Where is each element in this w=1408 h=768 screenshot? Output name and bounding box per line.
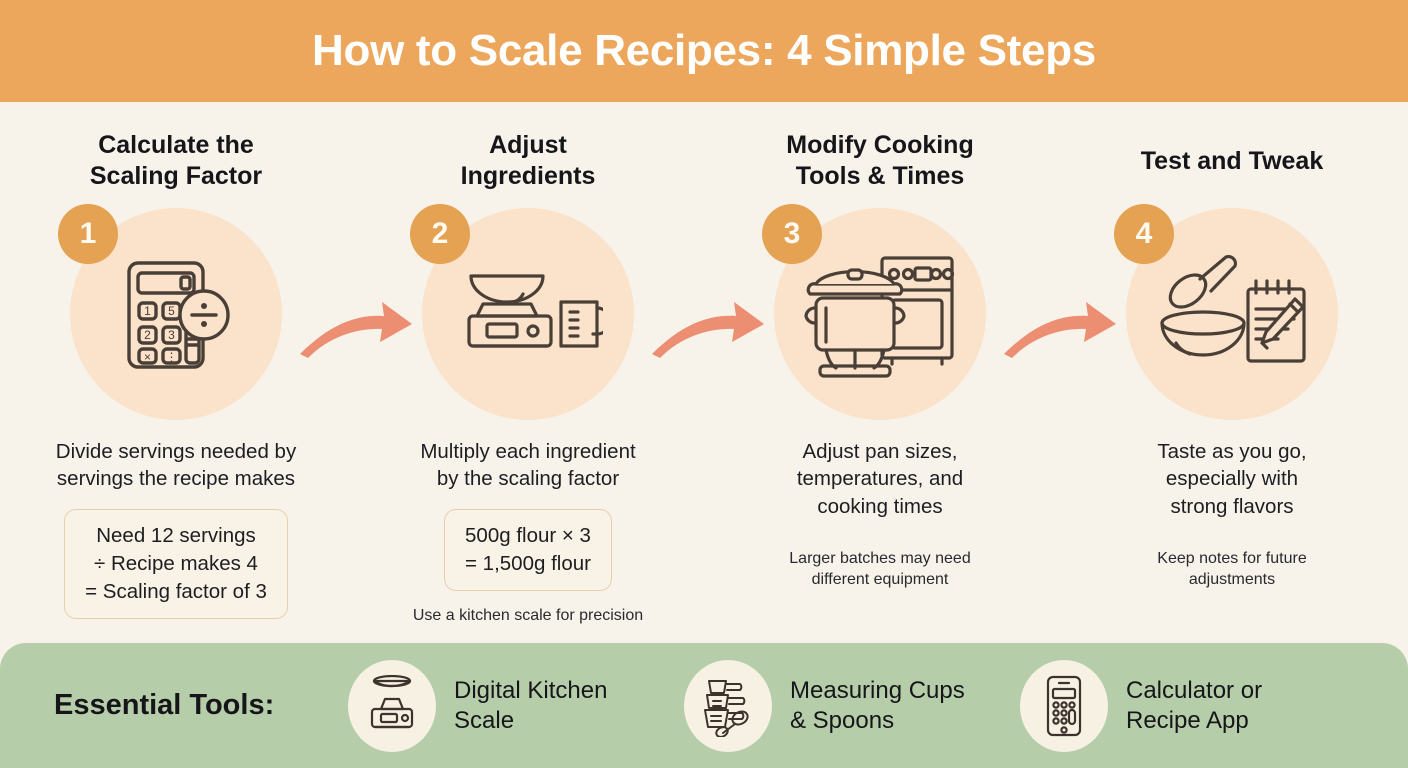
stove-pot-icon [800, 250, 960, 378]
step-1[interactable]: Calculate the Scaling Factor 1 [0, 102, 352, 643]
essential-tools-band: Essential Tools: Digital Kitchen Scale [0, 643, 1408, 768]
step-1-title: Calculate the Scaling Factor [90, 130, 262, 200]
header-bar: How to Scale Recipes: 4 Simple Steps [0, 0, 1408, 102]
step-3-description: Adjust pan sizes, temperatures, and cook… [730, 438, 1030, 520]
tool-1-label-line1: Digital Kitchen [454, 676, 650, 706]
step-2-desc-line1: Multiply each ingredient [378, 438, 678, 465]
step-3-note-line1: Larger batches may need [740, 548, 1020, 569]
svg-text:⋮: ⋮ [166, 350, 178, 364]
step-4-icon-circle-wrap: 4 [1126, 208, 1338, 420]
step-3-title: Modify Cooking Tools & Times [786, 130, 973, 200]
calculator-icon: 1 5 2 3 × ⋮ [111, 249, 241, 379]
measuring-cups-icon-wrap [684, 660, 772, 752]
page-title: How to Scale Recipes: 4 Simple Steps [312, 26, 1096, 76]
tool-2-label: Measuring Cups & Spoons [790, 676, 986, 736]
step-2-example-line2: = 1,500g flour [465, 550, 591, 578]
step-3-title-line1: Modify Cooking [786, 130, 973, 161]
tool-3-label-line2: Recipe App [1126, 706, 1322, 736]
step-4-desc-line1: Taste as you go, [1082, 438, 1382, 465]
tool-calculator-recipe-app[interactable]: Calculator or Recipe App [1020, 660, 1322, 752]
steps-container: Calculate the Scaling Factor 1 [0, 102, 1408, 643]
step-4-title-line1: Test and Tweak [1141, 146, 1323, 177]
step-4-title: Test and Tweak [1141, 130, 1323, 200]
step-4-note: Keep notes for future adjustments [1092, 548, 1372, 591]
step-2-title-line2: Ingredients [461, 161, 596, 192]
tool-1-label-line2: Scale [454, 706, 650, 736]
measuring-cups-icon [699, 675, 757, 737]
step-3[interactable]: Modify Cooking Tools & Times 3 [704, 102, 1056, 643]
step-3-desc-line3: cooking times [730, 493, 1030, 520]
step-3-number-badge: 3 [762, 204, 822, 264]
step-3-title-line2: Tools & Times [786, 161, 973, 192]
step-1-example-line2: ÷ Recipe makes 4 [85, 550, 267, 578]
step-1-title-line2: Scaling Factor [90, 161, 262, 192]
step-1-desc-line2: servings the recipe makes [26, 465, 326, 492]
step-4[interactable]: Test and Tweak 4 [1056, 102, 1408, 643]
step-2-example-line1: 500g flour × 3 [465, 522, 591, 550]
step-1-desc-line1: Divide servings needed by [26, 438, 326, 465]
step-1-description: Divide servings needed by servings the r… [26, 438, 326, 493]
svg-text:5: 5 [168, 304, 175, 318]
svg-text:3: 3 [168, 328, 175, 342]
digital-scale-icon-wrap [348, 660, 436, 752]
step-4-number-badge: 4 [1114, 204, 1174, 264]
step-1-example-line1: Need 12 servings [85, 522, 267, 550]
step-2-icon-circle-wrap: 2 [422, 208, 634, 420]
step-3-note-line2: different equipment [740, 569, 1020, 590]
tool-digital-kitchen-scale[interactable]: Digital Kitchen Scale [348, 660, 650, 752]
step-1-number-badge: 1 [58, 204, 118, 264]
step-4-note-line2: adjustments [1092, 569, 1372, 590]
tool-3-label: Calculator or Recipe App [1126, 676, 1322, 736]
step-2-desc-line2: by the scaling factor [378, 465, 678, 492]
step-3-icon-circle-wrap: 3 [774, 208, 986, 420]
phone-calculator-icon-wrap [1020, 660, 1108, 752]
svg-text:×: × [144, 350, 151, 364]
svg-text:1: 1 [144, 304, 151, 318]
divide-badge-icon [180, 291, 228, 339]
kitchen-scale-icon [453, 254, 603, 374]
svg-text:2: 2 [144, 328, 151, 342]
step-2-description: Multiply each ingredient by the scaling … [378, 438, 678, 493]
tool-3-label-line1: Calculator or [1126, 676, 1322, 706]
step-4-description: Taste as you go, especially with strong … [1082, 438, 1382, 520]
step-2[interactable]: Adjust Ingredients 2 [352, 102, 704, 643]
step-1-icon-circle-wrap: 1 [70, 208, 282, 420]
tool-1-label: Digital Kitchen Scale [454, 676, 650, 736]
tool-measuring-cups-spoons[interactable]: Measuring Cups & Spoons [684, 660, 986, 752]
step-3-desc-line2: temperatures, and [730, 465, 1030, 492]
step-3-desc-line1: Adjust pan sizes, [730, 438, 1030, 465]
tool-2-label-line2: & Spoons [790, 706, 986, 736]
step-1-title-line1: Calculate the [90, 130, 262, 161]
tool-2-label-line1: Measuring Cups [790, 676, 986, 706]
step-2-title: Adjust Ingredients [461, 130, 596, 200]
step-4-desc-line2: especially with [1082, 465, 1382, 492]
step-3-note: Larger batches may need different equipm… [740, 548, 1020, 591]
step-4-desc-line3: strong flavors [1082, 493, 1382, 520]
step-1-example-box: Need 12 servings ÷ Recipe makes 4 = Scal… [64, 509, 288, 620]
phone-calculator-icon [1042, 674, 1086, 738]
step-2-number-badge: 2 [410, 204, 470, 264]
step-4-note-line1: Keep notes for future [1092, 548, 1372, 569]
step-2-note: Use a kitchen scale for precision [388, 605, 668, 626]
essential-tools-label: Essential Tools: [54, 689, 348, 722]
step-2-title-line1: Adjust [461, 130, 596, 161]
digital-scale-icon [364, 675, 420, 737]
step-1-example-line3: = Scaling factor of 3 [85, 578, 267, 606]
step-2-example-box: 500g flour × 3 = 1,500g flour [444, 509, 612, 592]
bowl-spoon-notepad-icon [1156, 251, 1308, 377]
